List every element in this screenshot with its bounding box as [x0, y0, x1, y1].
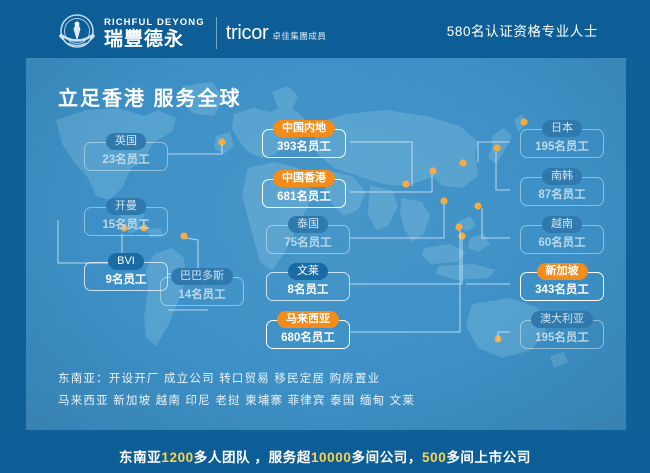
- location-name: 中国内地: [273, 120, 335, 137]
- page-title: 立足香港 服务全球: [58, 82, 242, 111]
- footer-seg-4: 多间上市公司: [446, 450, 531, 465]
- footnote-countries: 马来西亚 新加坡 越南 印尼 老挝 柬埔寨 菲律宾 泰国 缅甸 文莱: [58, 390, 415, 412]
- footer-seg-1: 东南亚: [119, 450, 161, 465]
- location-name: 马来西亚: [277, 311, 339, 328]
- crest-emblem-icon: [56, 13, 98, 53]
- infographic-root: RICHFUL DEYONG 瑞豐德永 tricor 卓佳集團成員 580名认证…: [0, 0, 650, 473]
- location-name: 越南: [542, 216, 582, 233]
- location-name: 开曼: [106, 198, 146, 215]
- partner-logo[interactable]: tricor 卓佳集團成員: [226, 23, 327, 43]
- location-card-australia[interactable]: 澳大利亚195名员工: [520, 311, 604, 349]
- footer-number-listed: 500: [422, 450, 446, 465]
- footer-statement: 东南亚1200多人团队 ，服务超10000多间公司，500多间上市公司: [119, 446, 531, 466]
- location-card-vietnam[interactable]: 越南60名员工: [520, 216, 604, 254]
- location-name: 澳大利亚: [531, 311, 593, 328]
- location-card-thailand[interactable]: 泰国75名员工: [266, 216, 350, 254]
- location-card-uk[interactable]: 英国23名员工: [84, 133, 168, 171]
- location-name: 泰国: [288, 216, 328, 233]
- partner-name: tricor: [226, 23, 269, 43]
- location-name: 新加坡: [537, 263, 588, 280]
- footer-bar: 东南亚1200多人团队 ，服务超10000多间公司，500多间上市公司: [0, 438, 650, 473]
- footnotes: 东南亚：开设开厂 成立公司 转口贸易 移民定居 购房置业 马来西亚 新加坡 越南…: [58, 368, 415, 412]
- location-name: 巴巴多斯: [171, 268, 233, 285]
- location-name: 中国香港: [273, 170, 335, 187]
- footnote-services: 东南亚：开设开厂 成立公司 转口贸易 移民定居 购房置业: [58, 368, 415, 390]
- location-name: 日本: [542, 120, 582, 137]
- footer-number-companies: 10000: [311, 450, 352, 465]
- footer-seg-3: 多间公司，: [352, 450, 423, 465]
- location-name: BVI: [108, 253, 144, 270]
- brand-divider: [216, 17, 217, 49]
- location-card-japan[interactable]: 日本195名员工: [520, 120, 604, 158]
- page-header: RICHFUL DEYONG 瑞豐德永 tricor 卓佳集團成員 580名认证…: [0, 0, 650, 58]
- bottom-strip: [0, 430, 650, 438]
- location-name: 南韩: [542, 168, 582, 185]
- location-name: 文莱: [288, 263, 328, 280]
- location-card-southkorea[interactable]: 南韩87名员工: [520, 168, 604, 206]
- partner-subtitle: 卓佳集團成員: [272, 30, 326, 42]
- brand-english: RICHFUL DEYONG: [104, 17, 205, 28]
- brand-chinese: 瑞豐德永: [104, 29, 205, 50]
- location-card-singapore[interactable]: 新加坡343名员工: [520, 263, 604, 301]
- map-stage: 立足香港 服务全球 英国23名员工开曼15名员工BVI9名员工巴巴多斯14名员工…: [26, 58, 626, 430]
- location-card-barbados[interactable]: 巴巴多斯14名员工: [160, 268, 244, 306]
- location-card-mainland[interactable]: 中国内地393名员工: [262, 120, 346, 158]
- location-card-bvi[interactable]: BVI9名员工: [84, 253, 168, 291]
- footer-seg-2: 多人团队 ，服务超: [194, 450, 311, 465]
- location-card-malaysia[interactable]: 马来西亚680名员工: [266, 311, 350, 349]
- location-card-cayman[interactable]: 开曼15名员工: [84, 198, 168, 236]
- location-card-hongkong[interactable]: 中国香港681名员工: [262, 170, 346, 208]
- footer-number-team: 1200: [161, 450, 193, 465]
- brand-logo[interactable]: RICHFUL DEYONG 瑞豐德永 tricor 卓佳集團成員: [56, 13, 326, 53]
- location-card-brunei[interactable]: 文莱8名员工: [266, 263, 350, 301]
- header-tagline: 580名认证资格专业人士: [447, 20, 598, 40]
- location-name: 英国: [106, 133, 146, 150]
